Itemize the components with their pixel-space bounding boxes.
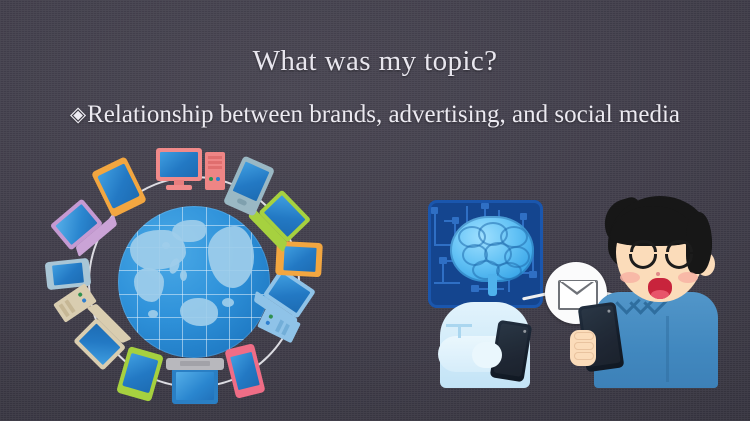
landmass-island-b [180, 270, 187, 281]
person-nose [656, 272, 660, 276]
presentation-slide: What was my topic? ◈Relationship between… [0, 0, 750, 421]
sweater-seam [666, 316, 669, 382]
slide-body-text: ◈Relationship between brands, advertisin… [60, 98, 690, 131]
landmass-australia [180, 298, 218, 326]
bullet-text: Relationship between brands, advertising… [87, 101, 680, 128]
person-finger-3 [574, 352, 594, 360]
ai-brain-icon [450, 216, 534, 282]
person-cheek-left [620, 272, 640, 283]
robot-hand [472, 342, 502, 368]
global-devices-illustration [62, 150, 327, 415]
landmass-north [172, 220, 206, 242]
landmass-island-c [222, 298, 234, 307]
device-desktop-monitor [156, 148, 202, 190]
landmass-island-d [148, 310, 158, 318]
globe-icon [118, 206, 270, 358]
device-pc-tower-top [205, 152, 225, 190]
robot-detail-line-v [458, 324, 461, 338]
person-finger-2 [574, 342, 594, 350]
person-cheek-right [678, 272, 698, 283]
ai-messaging-illustration [418, 196, 718, 388]
circuit-board-panel [428, 200, 543, 308]
landmass-island-e [162, 242, 170, 249]
device-laptop-bottom [166, 358, 224, 408]
diamond-bullet-icon: ◈ [70, 102, 86, 126]
slide-title: What was my topic? [0, 45, 750, 78]
brain-stem [488, 274, 497, 296]
person-mouth [648, 278, 672, 299]
person-finger-1 [574, 332, 594, 340]
